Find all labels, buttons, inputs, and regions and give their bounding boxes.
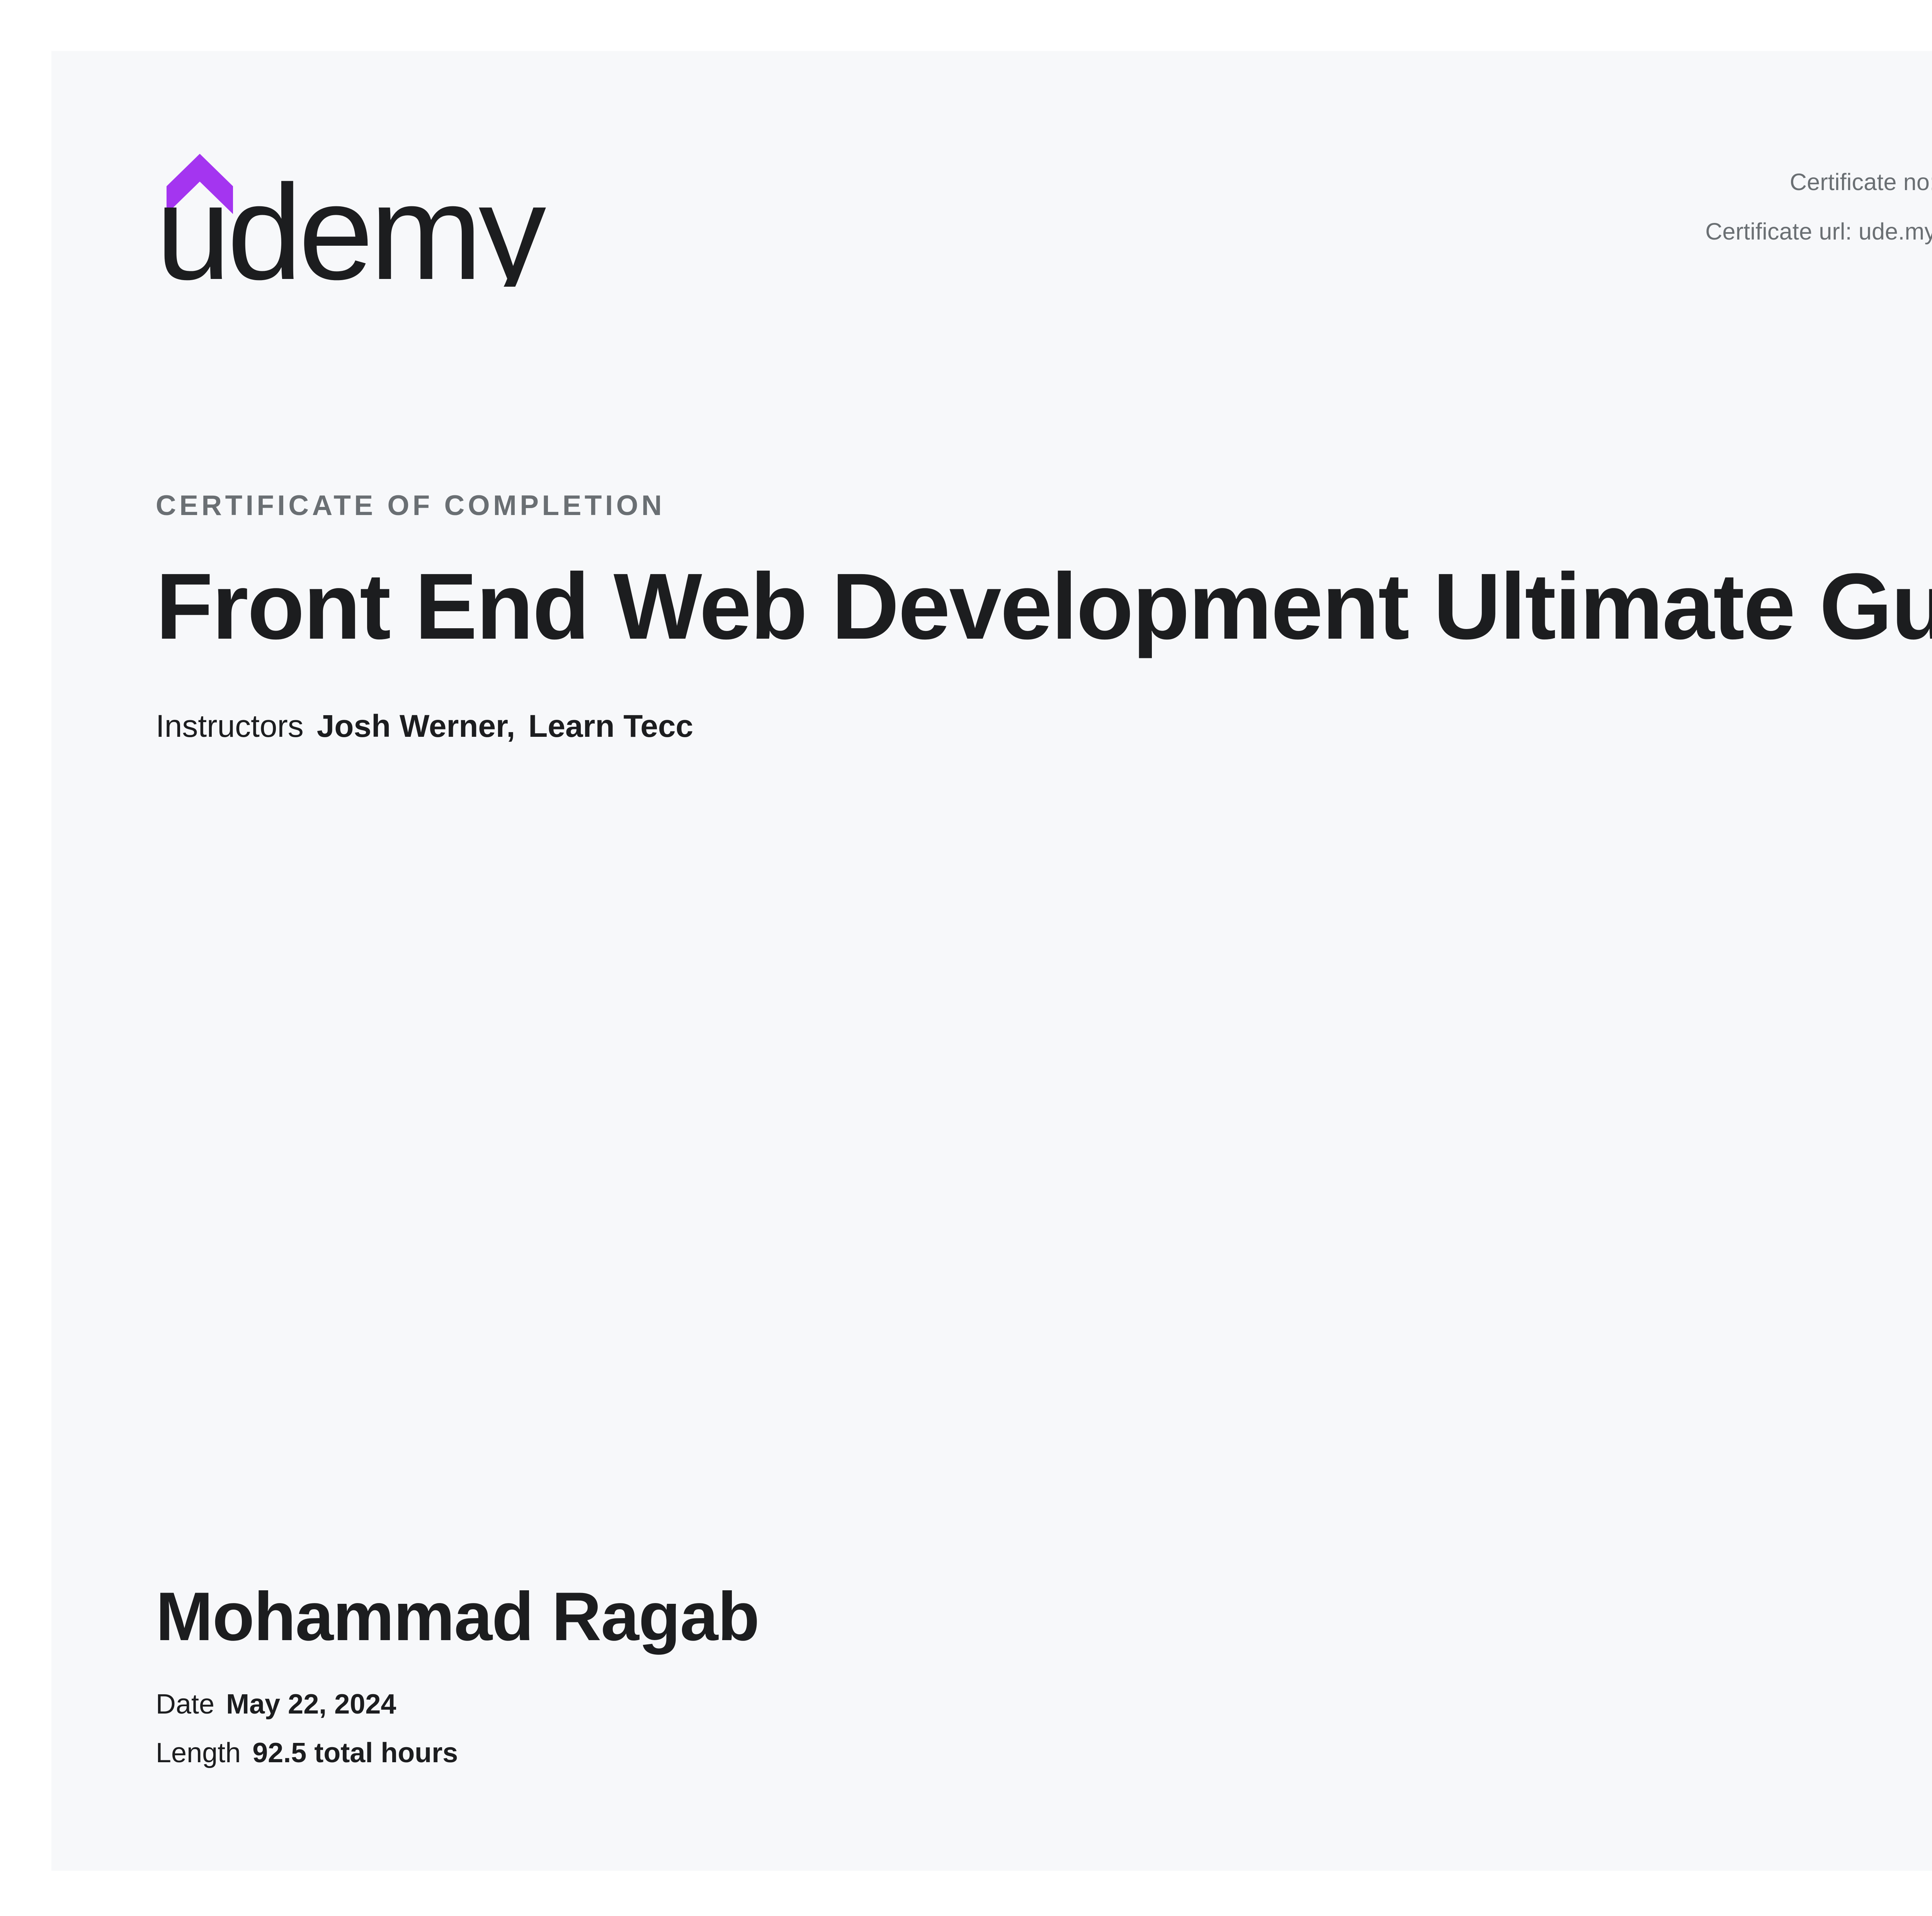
course-title: Front End Web Development Ultimate Guide bbox=[156, 520, 1932, 653]
instructor-name-secondary: Learn Tecc bbox=[515, 709, 693, 744]
certificate-footer: Mohammad Ragab DateMay 22, 2024 Length92… bbox=[156, 1577, 759, 1767]
udemy-logo: udemy bbox=[156, 148, 588, 287]
date-value: May 22, 2024 bbox=[214, 1689, 396, 1720]
date-label: Date bbox=[156, 1689, 214, 1720]
certificate-eyebrow: CERTIFICATE OF COMPLETION bbox=[156, 491, 1932, 520]
certificate-number: Certificate no: UC-26212730-5b08-4d3d-bd… bbox=[1705, 157, 1932, 207]
certificate-header: udemy Certificate no: UC-26212730-5b08-4… bbox=[51, 51, 1932, 345]
length-label: Length bbox=[156, 1737, 241, 1768]
instructor-name-primary: Josh Werner, bbox=[304, 709, 515, 744]
certificate-body: CERTIFICATE OF COMPLETION Front End Web … bbox=[156, 491, 1932, 745]
certificate-url[interactable]: Certificate url: ude.my/UC-26212730-5b08… bbox=[1705, 207, 1932, 256]
date-row: DateMay 22, 2024 bbox=[156, 1656, 759, 1718]
length-value: 92.5 total hours bbox=[241, 1737, 458, 1768]
instructors-row: InstructorsJosh Werner,Learn Tecc bbox=[156, 653, 1932, 745]
reference-number: Reference Number: 0004 bbox=[1705, 256, 1932, 306]
svg-text:udemy: udemy bbox=[156, 157, 546, 287]
certificate-meta: Certificate no: UC-26212730-5b08-4d3d-bd… bbox=[1705, 157, 1932, 306]
length-row: Length92.5 total hours bbox=[156, 1718, 759, 1767]
certificate-card: udemy Certificate no: UC-26212730-5b08-4… bbox=[51, 51, 1932, 1871]
instructors-label: Instructors bbox=[156, 709, 304, 744]
recipient-name: Mohammad Ragab bbox=[156, 1577, 759, 1656]
